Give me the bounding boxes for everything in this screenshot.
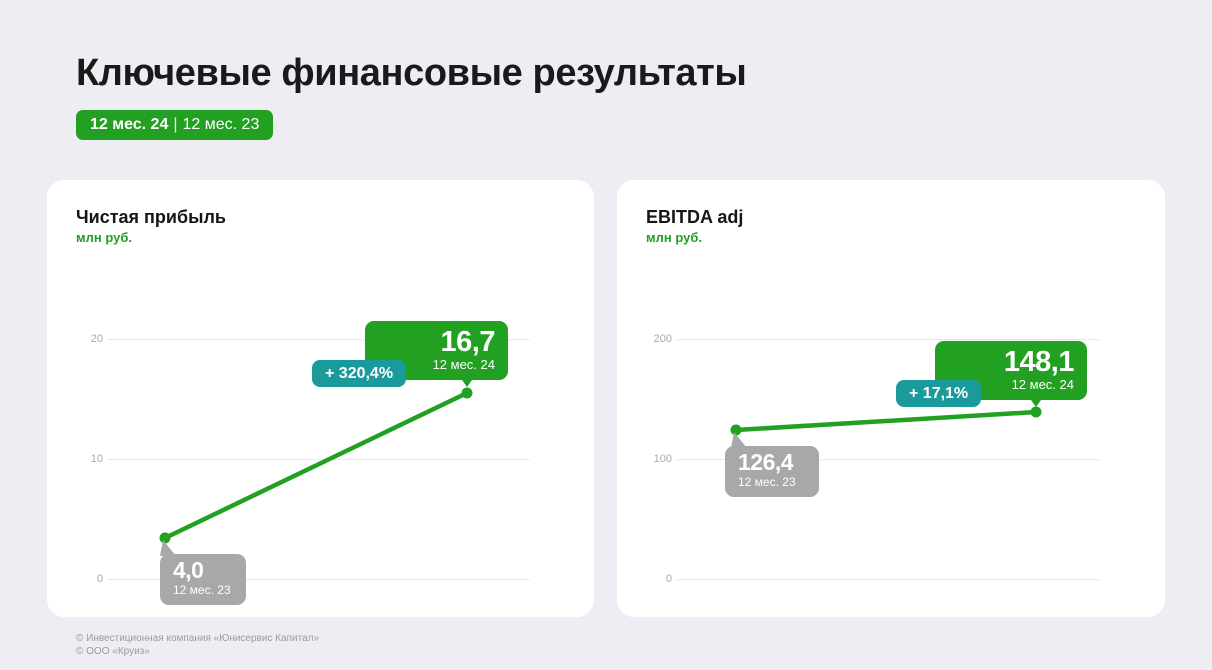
plot-area-net-profit: 20 10 0 4,0 12 мес. 23 16,7 12 мес. 24 xyxy=(47,180,594,617)
slide-root: Ключевые финансовые результаты 12 мес. 2… xyxy=(0,0,1212,670)
data-point-marker-current xyxy=(1031,407,1042,418)
tooltip-current-number: 16,7 xyxy=(378,327,495,357)
tooltip-previous-value: 126,4 12 мес. 23 xyxy=(725,446,819,497)
footer-line-2: © ООО «Круиз» xyxy=(76,645,319,658)
chart-card-ebitda-adj: EBITDA adj млн руб. 200 100 0 126,4 12 м… xyxy=(617,180,1165,617)
footer-credits: © Инвестиционная компания «Юнисервис Кап… xyxy=(76,632,319,658)
tooltip-previous-number: 4,0 xyxy=(173,558,233,583)
delta-badge: + 320,4% xyxy=(312,360,406,387)
chart-card-net-profit: Чистая прибыль млн руб. 20 10 0 4,0 12 м… xyxy=(47,180,594,617)
period-current-label: 12 мес. 24 xyxy=(90,116,168,134)
series-line-net-profit xyxy=(47,180,594,617)
data-point-marker-current xyxy=(462,388,473,399)
tooltip-tail-current xyxy=(457,373,477,387)
plot-area-ebitda-adj: 200 100 0 126,4 12 мес. 23 148,1 12 мес.… xyxy=(617,180,1165,617)
period-separator: | xyxy=(173,116,177,134)
tooltip-previous-period: 12 мес. 23 xyxy=(173,583,233,598)
delta-badge: + 17,1% xyxy=(896,380,981,407)
tooltip-current-number: 148,1 xyxy=(948,347,1074,377)
footer-line-1: © Инвестиционная компания «Юнисервис Кап… xyxy=(76,632,319,645)
tooltip-previous-period: 12 мес. 23 xyxy=(738,475,806,490)
period-badge: 12 мес. 24 | 12 мес. 23 xyxy=(76,110,273,140)
tooltip-previous-value: 4,0 12 мес. 23 xyxy=(160,554,246,605)
tooltip-tail-current xyxy=(1026,393,1046,407)
page-title: Ключевые финансовые результаты xyxy=(76,52,746,95)
period-previous-label: 12 мес. 23 xyxy=(183,116,260,134)
tooltip-previous-number: 126,4 xyxy=(738,450,806,475)
